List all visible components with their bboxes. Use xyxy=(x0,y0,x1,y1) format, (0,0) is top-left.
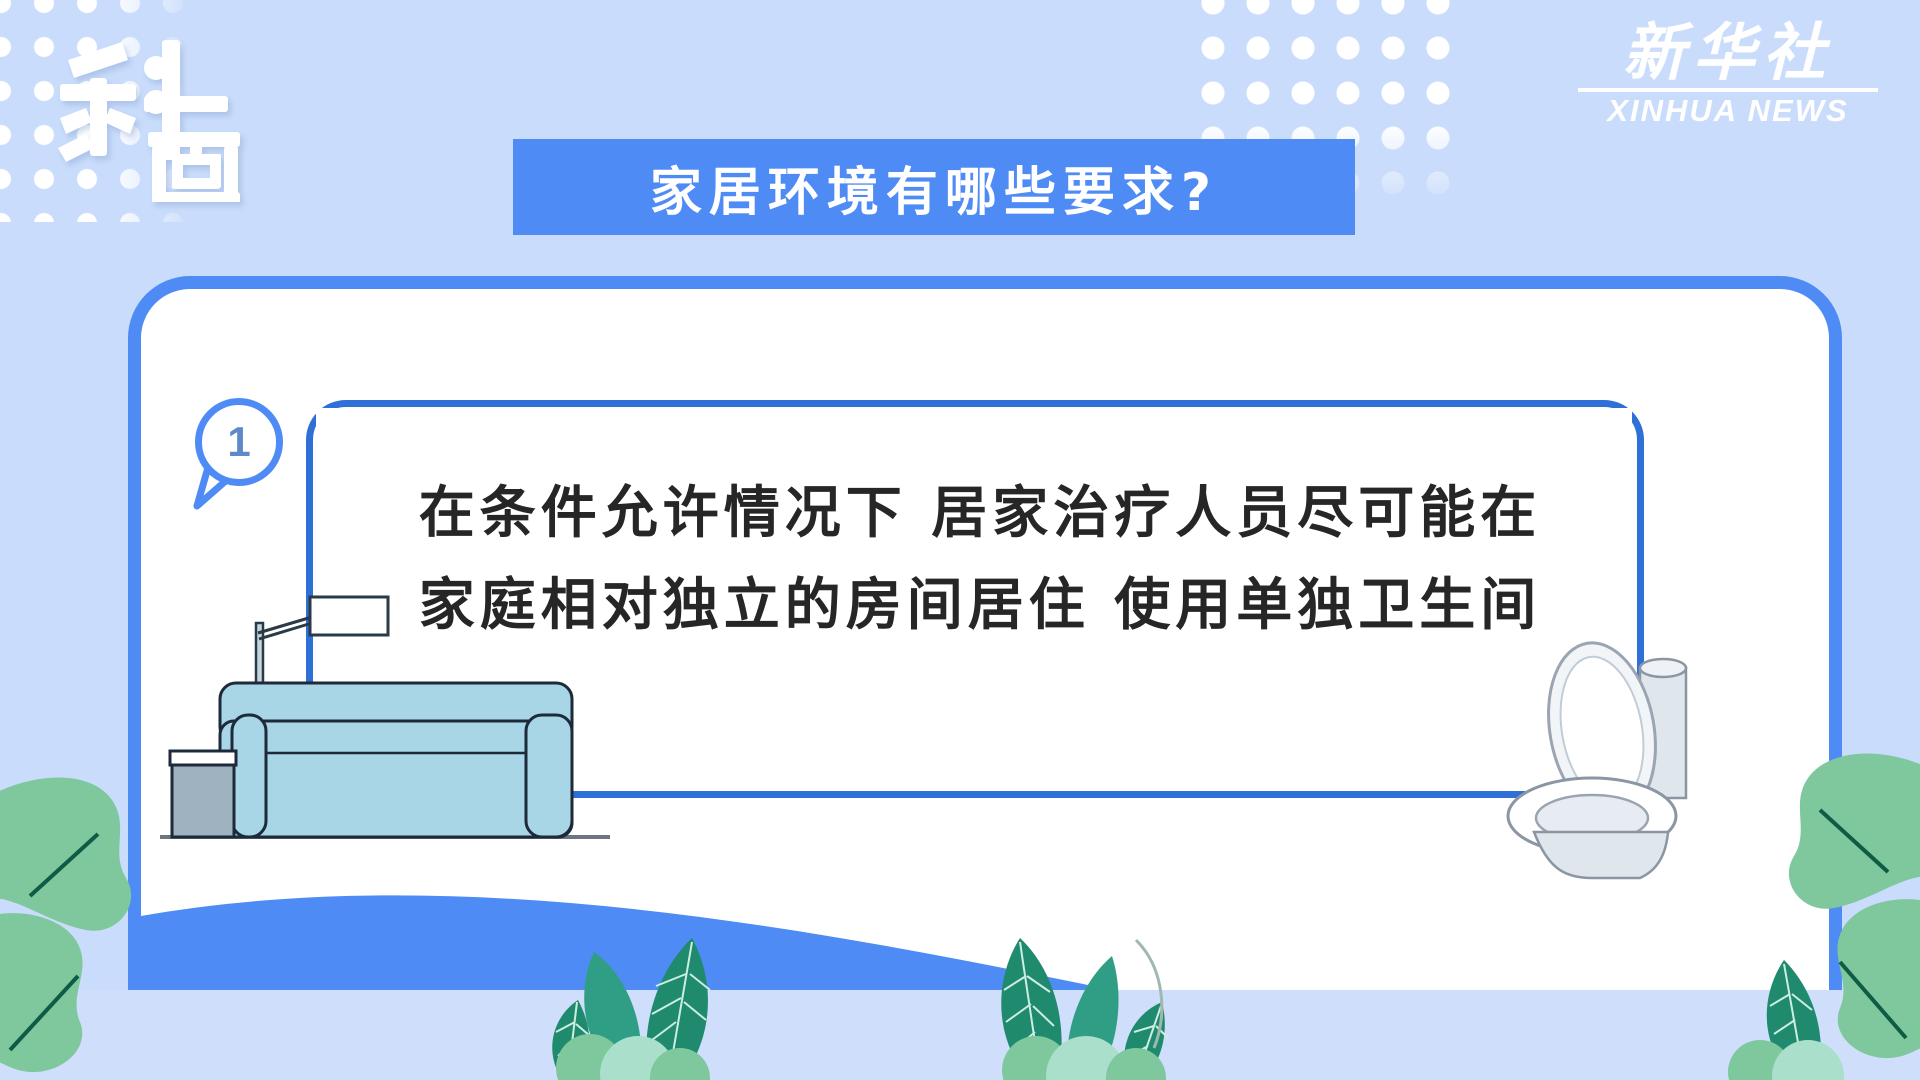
xinhua-logo: 新华社 XINHUA NEWS xyxy=(1578,22,1878,137)
statement-line-2: 家庭相对独立的房间居住 使用单独卫生间 xyxy=(300,560,1660,652)
badge-number: 1 xyxy=(227,421,250,463)
xinhua-name-cn: 新华社 xyxy=(1623,22,1833,84)
kehua-logo xyxy=(52,22,262,202)
title-banner: 家居环境有哪些要求? xyxy=(513,139,1355,235)
statement-text: 在条件允许情况下 居家治疗人员尽可能在 家庭相对独立的房间居住 使用单独卫生间 xyxy=(300,468,1660,652)
xinhua-name-en: XINHUA NEWS xyxy=(1607,95,1848,126)
page-title: 家居环境有哪些要求? xyxy=(650,150,1218,225)
infographic-canvas: 新华社 XINHUA NEWS 家居环境有哪些要求? 1 在条件允许情况下 居家… xyxy=(0,0,1920,1080)
xinhua-divider xyxy=(1578,88,1878,92)
step-badge: 1 xyxy=(195,398,283,486)
toilet-illustration xyxy=(1490,620,1730,880)
badge-circle: 1 xyxy=(195,398,283,486)
statement-line-1: 在条件允许情况下 居家治疗人员尽可能在 xyxy=(300,468,1660,560)
bottom-band xyxy=(0,990,1920,1080)
